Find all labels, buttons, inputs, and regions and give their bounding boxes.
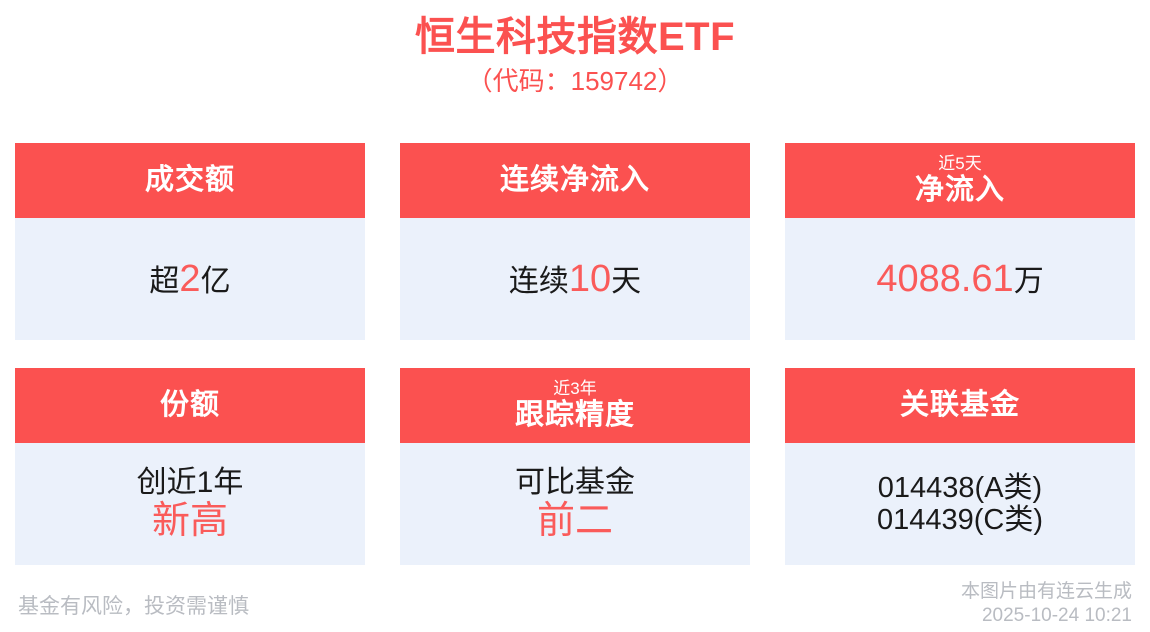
value-prefix: 超 (149, 265, 179, 298)
page-header: 恒生科技指数ETF （代码：159742） (0, 0, 1150, 97)
card-header-label: 份额 (160, 390, 220, 420)
card-value-line-1: 可比基金 (515, 466, 635, 500)
metric-card-turnover: 成交额 超2亿 (15, 143, 365, 340)
card-header-label: 净流入 (915, 175, 1005, 205)
metric-card-tracking-accuracy: 近3年 跟踪精度 可比基金 前二 (400, 368, 750, 565)
value-accent: 4088.61 (876, 258, 1013, 300)
card-value-line-2: 前二 (537, 500, 613, 543)
metric-card-shares: 份额 创近1年 新高 (15, 368, 365, 565)
value-accent: 10 (569, 258, 611, 300)
value-prefix: 014438(A类) (878, 472, 1042, 504)
page-title: 恒生科技指数ETF (0, 14, 1150, 60)
card-value-line-2: 014439(C类) (877, 504, 1043, 536)
card-header-label: 连续净流入 (500, 165, 650, 195)
metric-card-grid: 成交额 超2亿 连续净流入 连续10天 近5天 净流入 (15, 143, 1135, 565)
card-body: 014438(A类) 014439(C类) (785, 443, 1135, 565)
card-body: 连续10天 (400, 218, 750, 340)
generation-credit: 本图片由有连云生成 2025-10-24 10:21 (961, 580, 1132, 628)
card-value-line-1: 014438(A类) (878, 472, 1042, 504)
etf-infographic: 恒生科技指数ETF （代码：159742） 成交额 超2亿 连续净流入 连续10… (0, 0, 1150, 632)
card-value-line-1: 创近1年 (137, 466, 244, 500)
value-suffix: 天 (611, 265, 641, 298)
metric-card-related-funds: 关联基金 014438(A类) 014439(C类) (785, 368, 1135, 565)
value-accent: 2 (179, 258, 200, 300)
card-body: 超2亿 (15, 218, 365, 340)
credit-timestamp: 2025-10-24 10:21 (961, 604, 1132, 628)
card-header: 关联基金 (785, 368, 1135, 443)
risk-disclaimer: 基金有风险，投资需谨慎 (18, 580, 249, 620)
card-header: 份额 (15, 368, 365, 443)
card-header-label: 关联基金 (900, 390, 1020, 420)
value-suffix: 万 (1014, 265, 1044, 298)
card-value-line-1: 4088.61万 (876, 258, 1043, 301)
value-prefix: 创近1年 (137, 466, 244, 499)
card-value-line-1: 超2亿 (149, 258, 230, 301)
card-value-line-1: 连续10天 (509, 258, 641, 301)
metric-card-net-inflow-5d: 近5天 净流入 4088.61万 (785, 143, 1135, 340)
card-header-label: 成交额 (145, 165, 235, 195)
value-prefix: 可比基金 (515, 466, 635, 499)
card-header: 连续净流入 (400, 143, 750, 218)
card-header: 近3年 跟踪精度 (400, 368, 750, 443)
card-header: 成交额 (15, 143, 365, 218)
credit-source: 本图片由有连云生成 (961, 580, 1132, 604)
card-body: 4088.61万 (785, 218, 1135, 340)
metric-card-net-inflow-streak: 连续净流入 连续10天 (400, 143, 750, 340)
fund-code-subtitle: （代码：159742） (0, 66, 1150, 97)
card-body: 创近1年 新高 (15, 443, 365, 565)
card-value-line-2: 新高 (152, 500, 228, 543)
page-footer: 基金有风险，投资需谨慎 本图片由有连云生成 2025-10-24 10:21 (0, 580, 1150, 632)
card-header-prelabel: 近3年 (553, 380, 596, 398)
card-body: 可比基金 前二 (400, 443, 750, 565)
card-header: 近5天 净流入 (785, 143, 1135, 218)
card-header-label: 跟踪精度 (515, 400, 635, 430)
card-header-prelabel: 近5天 (938, 155, 981, 173)
value-suffix: 亿 (201, 265, 231, 298)
value-prefix: 连续 (509, 265, 569, 298)
